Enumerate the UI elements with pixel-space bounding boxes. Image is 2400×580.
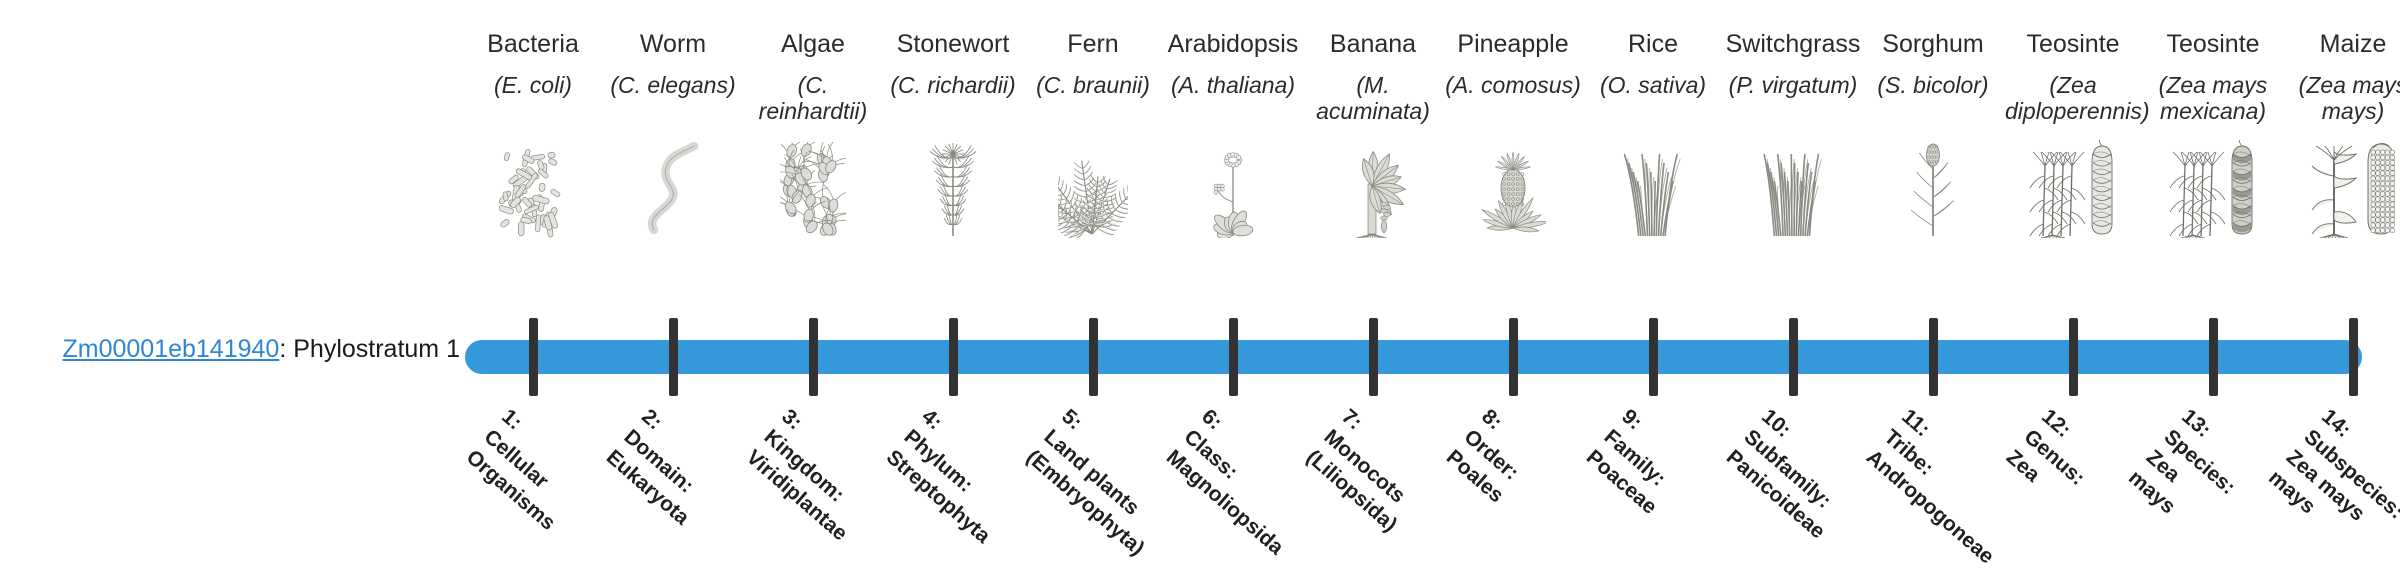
species-scientific-name: (C. reinhardtii)	[745, 73, 881, 131]
phylostratum-figure: Zm00001eb141940: Phylostratum 1 Bacteria…	[0, 0, 2400, 580]
timeline-tick	[1369, 318, 1378, 396]
species-scientific-name: (C. elegans)	[605, 73, 741, 131]
pineapple-plant-icon	[1445, 133, 1581, 238]
stratum-label: 9:Family:Poaceae	[1580, 404, 1697, 521]
species-column: Pineapple(A. comosus)	[1445, 30, 1581, 238]
species-column: Banana(M. acuminata)	[1305, 30, 1441, 238]
species-common-name: Algae	[745, 30, 881, 62]
timeline-tick	[669, 318, 678, 396]
timeline-tick	[2209, 318, 2218, 396]
species-column: Switchgrass(P. virgatum)	[1725, 30, 1861, 238]
timeline-tick	[1929, 318, 1938, 396]
stratum-label: 13:Species:Zeamays	[2122, 404, 2258, 542]
chlamydomonas-cells-icon	[780, 142, 846, 238]
species-scientific-name: (Zea diploperennis)	[2005, 73, 2141, 131]
species-scientific-name: (M. acuminata)	[1305, 73, 1441, 131]
species-column: Arabidopsis(A. thaliana)	[1165, 30, 1301, 238]
pineapple-plant-icon	[1480, 140, 1546, 238]
species-scientific-name: (Zea mays mays)	[2285, 73, 2400, 131]
species-common-name: Switchgrass	[1725, 30, 1861, 62]
stratum-label: 6:Class:Magnoliopsida	[1160, 404, 1324, 561]
switchgrass-plant-icon	[1759, 140, 1827, 238]
species-common-name: Teosinte	[2145, 30, 2281, 62]
ecoli-rods-icon	[499, 140, 567, 238]
species-column: Teosinte(Zea diploperennis)	[2005, 30, 2141, 238]
stratum-label: 1:CellularOrganisms	[460, 404, 596, 537]
timeline-tick	[949, 318, 958, 396]
stratum-label: 2:Domain:Eukaryota	[600, 404, 730, 531]
species-common-name: Pineapple	[1445, 30, 1581, 62]
species-column: Teosinte(Zea mays mexicana)	[2145, 30, 2281, 238]
maize-plant-icon	[2307, 140, 2361, 238]
fern-plant-icon	[1025, 133, 1161, 238]
arabidopsis-plant-icon	[1165, 133, 1301, 238]
species-common-name: Rice	[1585, 30, 1721, 62]
timeline-tick	[1649, 318, 1658, 396]
rice-plant-icon	[1619, 140, 1687, 238]
timeline-tick	[1229, 318, 1238, 396]
timeline-tick	[2069, 318, 2078, 396]
sorghum-plant-icon	[1865, 133, 2001, 238]
gene-label-separator: :	[279, 335, 293, 363]
arabidopsis-plant-icon	[1200, 140, 1266, 238]
species-column: Rice(O. sativa)	[1585, 30, 1721, 238]
switchgrass-plant-icon	[1725, 133, 1861, 238]
nematode-worm-icon	[605, 133, 741, 238]
timeline-tick	[809, 318, 818, 396]
species-scientific-name: (S. bicolor)	[1865, 73, 2001, 131]
stonewort-plant-icon	[920, 140, 986, 238]
species-common-name: Teosinte	[2005, 30, 2141, 62]
banana-tree-icon	[1336, 140, 1410, 238]
chlamydomonas-cells-icon	[745, 133, 881, 238]
species-scientific-name: (A. thaliana)	[1165, 73, 1301, 131]
species-scientific-name: (Zea mays mexicana)	[2145, 73, 2281, 131]
species-common-name: Worm	[605, 30, 741, 62]
stratum-label: 5:Land plants(Embryophyta)	[1020, 404, 1185, 562]
species-common-name: Fern	[1025, 30, 1161, 62]
maize-cob-icon	[2365, 140, 2399, 238]
species-column: Maize(Zea mays mays)	[2285, 30, 2400, 238]
species-common-name: Bacteria	[465, 30, 601, 62]
phylostratum-value: Phylostratum 1	[293, 335, 460, 363]
stratum-label: 10:Subfamily:Panicoideae	[1720, 404, 1865, 545]
species-scientific-name: (E. coli)	[465, 73, 601, 131]
timeline-tick	[1089, 318, 1098, 396]
species-scientific-name: (P. virgatum)	[1725, 73, 1861, 131]
timeline-tick	[529, 318, 538, 396]
rice-plant-icon	[1585, 133, 1721, 238]
species-column: Bacteria(E. coli)	[465, 30, 601, 238]
teosinte-ear-icon	[2089, 140, 2117, 238]
species-column: Worm(C. elegans)	[605, 30, 741, 238]
stratum-label: 4:Phylum:Streptophyta	[880, 404, 1031, 550]
ecoli-rods-icon	[465, 133, 601, 238]
gene-id-link[interactable]: Zm00001eb141940	[62, 335, 279, 363]
timeline-tick	[1509, 318, 1518, 396]
species-common-name: Maize	[2285, 30, 2400, 62]
species-scientific-name: (C. braunii)	[1025, 73, 1161, 131]
species-common-name: Stonewort	[885, 30, 1021, 62]
species-common-name: Arabidopsis	[1165, 30, 1301, 62]
species-columns: Bacteria(E. coli)Worm(C. elegans)Algae(C…	[465, 0, 2365, 310]
species-scientific-name: (O. sativa)	[1585, 73, 1721, 131]
species-common-name: Banana	[1305, 30, 1441, 62]
stratum-label: 14:Subspecies:Zea maysmays	[2262, 404, 2400, 566]
banana-tree-icon	[1305, 133, 1441, 238]
teosinte-plant-icon	[2029, 140, 2085, 238]
timeline-tick	[1789, 318, 1798, 396]
sorghum-plant-icon	[1900, 140, 1966, 238]
species-column: Sorghum(S. bicolor)	[1865, 30, 2001, 238]
species-scientific-name: (A. comosus)	[1445, 73, 1581, 131]
maize-plant-and-cob-icon	[2285, 133, 2400, 238]
nematode-worm-icon	[642, 142, 704, 238]
teosinte-plant-and-ear-icon	[2145, 133, 2281, 238]
teosinte-plant-and-ear-icon	[2005, 133, 2141, 238]
stratum-label: 8:Order:Poales	[1440, 404, 1544, 509]
species-column: Fern(C. braunii)	[1025, 30, 1161, 238]
stonewort-plant-icon	[885, 133, 1021, 238]
gene-phylostratum-label: Zm00001eb141940: Phylostratum 1	[40, 336, 460, 364]
teosinte-plant-icon	[2169, 140, 2225, 238]
stratum-label: 11:Tribe:Andropogoneae	[1860, 404, 2034, 570]
species-column: Stonewort(C. richardii)	[885, 30, 1021, 238]
stratum-label: 3:Kingdom:Viridiplantae	[740, 404, 888, 547]
species-common-name: Sorghum	[1865, 30, 2001, 62]
species-scientific-name: (C. richardii)	[885, 73, 1021, 131]
teosinte-ear-icon	[2229, 140, 2257, 238]
stratum-label: 7:Monocots(Liliopsida)	[1300, 404, 1437, 538]
species-column: Algae(C. reinhardtii)	[745, 30, 881, 238]
timeline-tick	[2349, 318, 2358, 396]
fern-plant-icon	[1058, 140, 1128, 238]
